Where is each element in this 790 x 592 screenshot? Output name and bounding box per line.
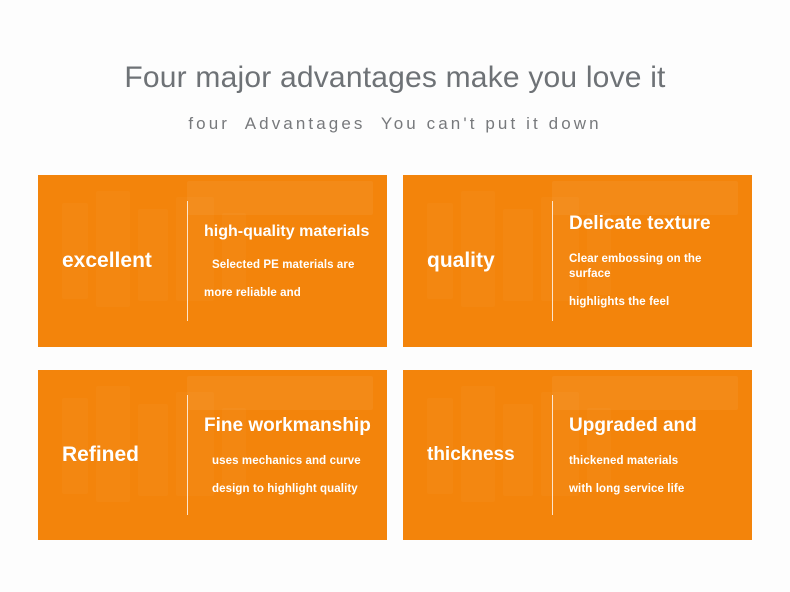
card-label: thickness (403, 444, 552, 466)
advantage-card-grid: excellent high-quality materials Selecte… (38, 175, 752, 540)
advantage-card-refined[interactable]: Refined Fine workmanship uses mechanics … (38, 370, 387, 540)
card-detail-line: Clear embossing on the surface (569, 252, 744, 282)
card-detail-line: highlights the feel (569, 295, 744, 310)
card-detail-line: with long service life (569, 482, 744, 497)
card-watermark-band (552, 376, 738, 410)
card-watermark-band (187, 376, 373, 410)
advantages-page: Four major advantages make you love it f… (0, 0, 790, 592)
card-detail-line: design to highlight quality (204, 482, 379, 497)
card-watermark-band (187, 181, 373, 215)
card-heading: Fine workmanship (204, 414, 379, 438)
card-label: excellent (38, 249, 187, 273)
page-title: Four major advantages make you love it (0, 0, 790, 98)
card-label: quality (403, 249, 552, 273)
advantage-card-thickness[interactable]: thickness Upgraded and thickened materia… (403, 370, 752, 540)
card-label: Refined (38, 443, 187, 467)
card-heading: Upgraded and (569, 414, 744, 438)
advantage-card-quality[interactable]: quality Delicate texture Clear embossing… (403, 175, 752, 347)
page-subtitle: four Advantages You can't put it down (0, 98, 790, 136)
card-body: high-quality materials Selected PE mater… (188, 222, 387, 301)
card-watermark-band (552, 181, 738, 215)
card-detail-line: more reliable and (204, 286, 379, 301)
card-detail-line: uses mechanics and curve (204, 454, 379, 469)
card-heading: Delicate texture (569, 212, 744, 236)
card-detail-line: thickened materials (569, 454, 744, 469)
advantage-card-excellent[interactable]: excellent high-quality materials Selecte… (38, 175, 387, 347)
card-body: Fine workmanship uses mechanics and curv… (188, 414, 387, 497)
page-header: Four major advantages make you love it f… (0, 0, 790, 136)
card-detail-line: Selected PE materials are (204, 258, 379, 273)
card-heading: high-quality materials (204, 222, 379, 242)
card-body: Upgraded and thickened materials with lo… (553, 414, 752, 497)
card-body: Delicate texture Clear embossing on the … (553, 212, 752, 310)
